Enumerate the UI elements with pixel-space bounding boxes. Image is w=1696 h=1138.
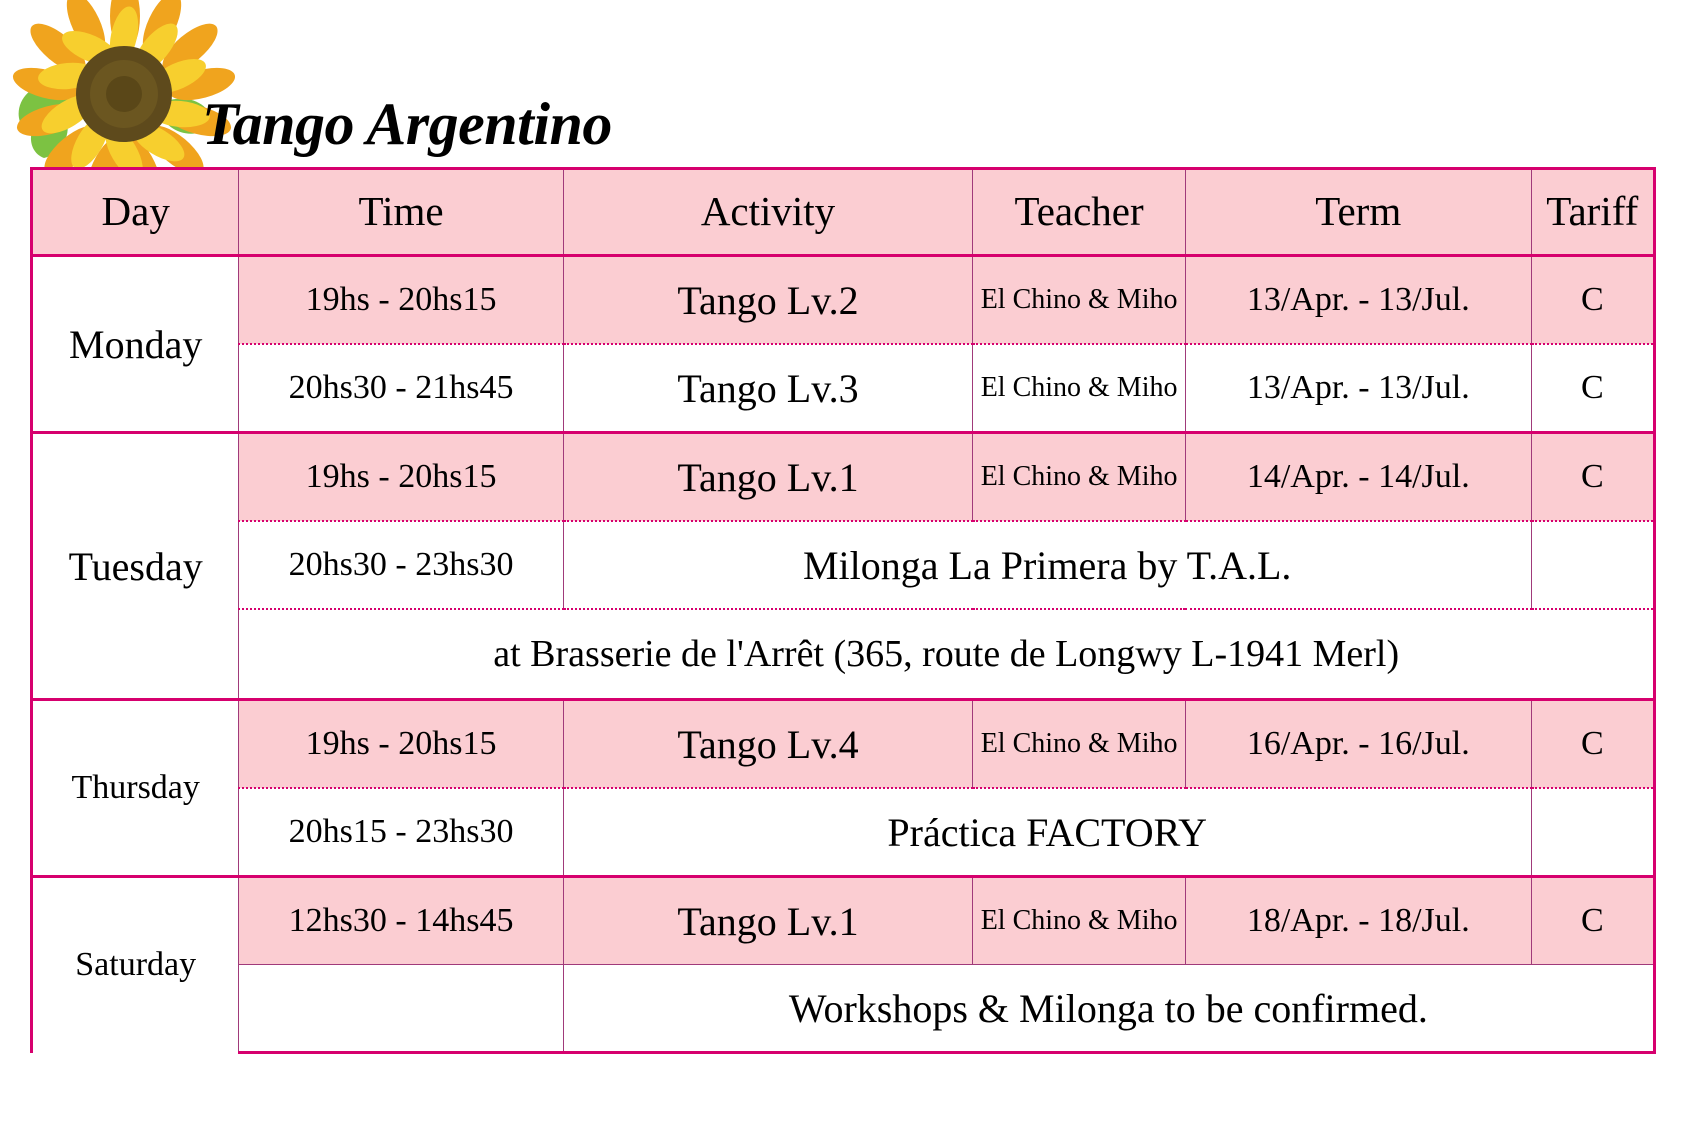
- activity-cell: Tango Lv.4: [563, 700, 972, 789]
- time-cell: 20hs30 - 23hs30: [239, 521, 563, 609]
- time-cell: [239, 965, 563, 1053]
- table-row: Tuesday 19hs - 20hs15 Tango Lv.1 El Chin…: [32, 433, 1655, 522]
- activity-cell: Tango Lv.3: [563, 344, 972, 433]
- day-label-saturday: Saturday: [32, 877, 239, 1053]
- page-title: Tango Argentino: [202, 94, 612, 154]
- tariff-cell: C: [1531, 256, 1654, 345]
- column-header-time: Time: [239, 169, 563, 256]
- table-row: 20hs30 - 21hs45 Tango Lv.3 El Chino & Mi…: [32, 344, 1655, 433]
- tariff-cell: C: [1531, 877, 1654, 965]
- day-label-monday: Monday: [32, 256, 239, 433]
- teacher-cell: El Chino & Miho: [973, 344, 1186, 433]
- teacher-cell: El Chino & Miho: [973, 700, 1186, 789]
- tariff-cell: C: [1531, 344, 1654, 433]
- column-header-day: Day: [32, 169, 239, 256]
- activity-cell: Tango Lv.1: [563, 877, 972, 965]
- activity-cell-workshops: Workshops & Milonga to be confirmed.: [563, 965, 1654, 1053]
- column-header-term: Term: [1185, 169, 1531, 256]
- time-cell: 19hs - 20hs15: [239, 700, 563, 789]
- column-header-activity: Activity: [563, 169, 972, 256]
- term-cell: 13/Apr. - 13/Jul.: [1185, 256, 1531, 345]
- venue-note: at Brasserie de l'Arrêt (365, route de L…: [239, 609, 1655, 700]
- schedule-table: Day Time Activity Teacher Term Tariff Mo…: [30, 167, 1656, 1054]
- activity-cell-milonga: Milonga La Primera by T.A.L.: [563, 521, 1531, 609]
- day-label-thursday: Thursday: [32, 700, 239, 877]
- day-label-tuesday: Tuesday: [32, 433, 239, 700]
- time-cell: 19hs - 20hs15: [239, 256, 563, 345]
- tariff-cell: C: [1531, 700, 1654, 789]
- activity-cell-practica: Práctica FACTORY: [563, 788, 1531, 877]
- schedule-table-wrapper: Day Time Activity Teacher Term Tariff Mo…: [30, 167, 1656, 1054]
- column-header-teacher: Teacher: [973, 169, 1186, 256]
- tariff-cell: [1531, 788, 1654, 877]
- table-row: Thursday 19hs - 20hs15 Tango Lv.4 El Chi…: [32, 700, 1655, 789]
- term-cell: 14/Apr. - 14/Jul.: [1185, 433, 1531, 522]
- page-header: Tango Argentino: [0, 0, 1696, 168]
- term-cell: 13/Apr. - 13/Jul.: [1185, 344, 1531, 433]
- table-header-row: Day Time Activity Teacher Term Tariff: [32, 169, 1655, 256]
- teacher-cell: El Chino & Miho: [973, 433, 1186, 522]
- teacher-cell: El Chino & Miho: [973, 256, 1186, 345]
- table-row: Monday 19hs - 20hs15 Tango Lv.2 El Chino…: [32, 256, 1655, 345]
- term-cell: 16/Apr. - 16/Jul.: [1185, 700, 1531, 789]
- time-cell: 20hs15 - 23hs30: [239, 788, 563, 877]
- time-cell: 12hs30 - 14hs45: [239, 877, 563, 965]
- table-row: 20hs30 - 23hs30 Milonga La Primera by T.…: [32, 521, 1655, 609]
- activity-cell: Tango Lv.1: [563, 433, 972, 522]
- table-row: Saturday 12hs30 - 14hs45 Tango Lv.1 El C…: [32, 877, 1655, 965]
- activity-cell: Tango Lv.2: [563, 256, 972, 345]
- term-cell: 18/Apr. - 18/Jul.: [1185, 877, 1531, 965]
- column-header-tariff: Tariff: [1531, 169, 1654, 256]
- table-row-note: at Brasserie de l'Arrêt (365, route de L…: [32, 609, 1655, 700]
- table-row: Workshops & Milonga to be confirmed.: [32, 965, 1655, 1053]
- time-cell: 19hs - 20hs15: [239, 433, 563, 522]
- tariff-cell: C: [1531, 433, 1654, 522]
- table-row: 20hs15 - 23hs30 Práctica FACTORY: [32, 788, 1655, 877]
- teacher-cell: El Chino & Miho: [973, 877, 1186, 965]
- tariff-cell: [1531, 521, 1654, 609]
- time-cell: 20hs30 - 21hs45: [239, 344, 563, 433]
